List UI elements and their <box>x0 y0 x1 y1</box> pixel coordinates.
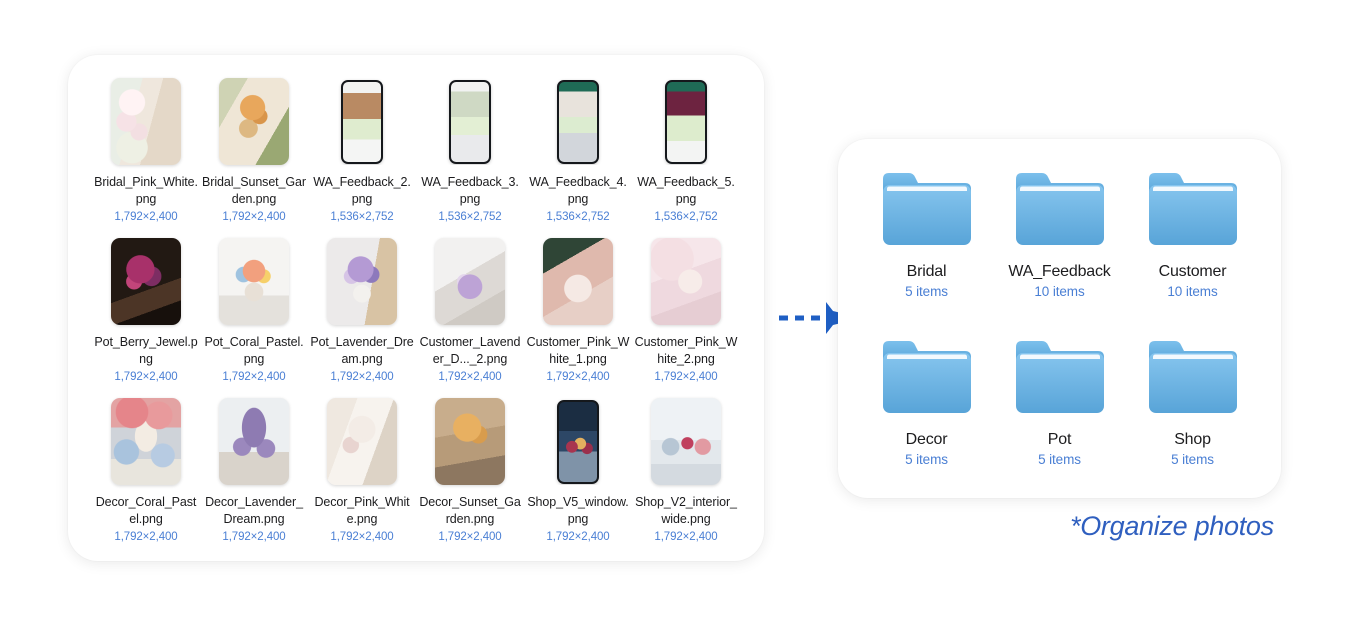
file-thumbnail <box>111 78 181 165</box>
photo-preview <box>651 398 721 485</box>
file-dimensions: 1,792×2,400 <box>222 370 285 384</box>
file-dimensions: 1,792×2,400 <box>546 530 609 544</box>
file-item[interactable]: Customer_Lavender_D..._2.png1,792×2,400 <box>416 233 524 393</box>
file-item[interactable]: Decor_Sunset_Garden.png1,792×2,400 <box>416 393 524 553</box>
file-name: Customer_Pink_White_2.png <box>634 334 738 367</box>
file-thumbnail <box>111 398 181 485</box>
phone-screenshot-icon <box>341 80 383 164</box>
file-dimensions: 1,792×2,400 <box>438 370 501 384</box>
file-thumbnail <box>651 78 721 165</box>
file-thumbnail <box>219 238 289 325</box>
folder-item-count: 5 items <box>905 452 948 468</box>
file-dimensions: 1,792×2,400 <box>114 210 177 224</box>
folder-icon <box>879 337 975 417</box>
file-dimensions: 1,792×2,400 <box>114 530 177 544</box>
file-thumbnail <box>435 78 505 165</box>
phone-screenshot-icon <box>557 80 599 164</box>
file-thumbnail <box>219 398 289 485</box>
folder-icon <box>1145 337 1241 417</box>
file-dimensions: 1,792×2,400 <box>330 370 393 384</box>
folder-icon <box>1012 337 1108 417</box>
file-name: Customer_Lavender_D..._2.png <box>418 334 522 367</box>
folder-name: Customer <box>1159 262 1227 281</box>
file-dimensions: 1,536×2,752 <box>438 210 501 224</box>
file-name: Decor_Pink_White.png <box>310 494 414 527</box>
photo-preview <box>219 78 289 165</box>
file-thumbnail <box>111 238 181 325</box>
folder-name: Pot <box>1048 430 1071 449</box>
photo-preview <box>219 398 289 485</box>
file-thumbnail <box>327 78 397 165</box>
file-thumbnail <box>543 398 613 485</box>
file-dimensions: 1,792×2,400 <box>330 530 393 544</box>
folder-item[interactable]: WA_Feedback10 items <box>993 161 1126 329</box>
photo-preview <box>435 398 505 485</box>
file-thumbnail <box>327 238 397 325</box>
file-thumbnail <box>327 398 397 485</box>
photo-preview <box>111 238 181 325</box>
file-name: Decor_Lavender_Dream.png <box>202 494 306 527</box>
file-name: Shop_V2_interior_wide.png <box>634 494 738 527</box>
photo-preview <box>651 238 721 325</box>
file-item[interactable]: Customer_Pink_White_2.png1,792×2,400 <box>632 233 740 393</box>
file-item[interactable]: WA_Feedback_3.png1,536×2,752 <box>416 73 524 233</box>
file-item[interactable]: Decor_Lavender_Dream.png1,792×2,400 <box>200 393 308 553</box>
file-item[interactable]: Pot_Lavender_Dream.png1,792×2,400 <box>308 233 416 393</box>
phone-screenshot-icon <box>665 80 707 164</box>
folder-item-count: 10 items <box>1167 284 1217 300</box>
folder-item[interactable]: Bridal5 items <box>860 161 993 329</box>
file-name: Pot_Berry_Jewel.png <box>94 334 198 367</box>
file-item[interactable]: Bridal_Pink_White.png1,792×2,400 <box>92 73 200 233</box>
folder-item[interactable]: Decor5 items <box>860 329 993 497</box>
file-item[interactable]: WA_Feedback_4.png1,536×2,752 <box>524 73 632 233</box>
folder-name: Shop <box>1174 430 1211 449</box>
photo-preview <box>327 398 397 485</box>
file-name: WA_Feedback_2.png <box>310 174 414 207</box>
folder-item[interactable]: Pot5 items <box>993 329 1126 497</box>
photo-preview <box>435 238 505 325</box>
folder-item-count: 5 items <box>905 284 948 300</box>
file-name: Customer_Pink_White_1.png <box>526 334 630 367</box>
folder-item[interactable]: Customer10 items <box>1126 161 1259 329</box>
file-name: Pot_Coral_Pastel.png <box>202 334 306 367</box>
source-files-panel: Bridal_Pink_White.png1,792×2,400Bridal_S… <box>68 55 764 561</box>
file-thumbnail <box>543 238 613 325</box>
folder-item-count: 5 items <box>1038 452 1081 468</box>
folder-item-count: 10 items <box>1034 284 1084 300</box>
file-thumbnail <box>543 78 613 165</box>
file-thumbnail <box>651 398 721 485</box>
file-thumbnail <box>435 238 505 325</box>
file-name: WA_Feedback_4.png <box>526 174 630 207</box>
file-thumbnail <box>651 238 721 325</box>
folder-icon <box>1145 169 1241 249</box>
file-item[interactable]: Shop_V2_interior_wide.png1,792×2,400 <box>632 393 740 553</box>
file-name: Shop_V5_window.png <box>526 494 630 527</box>
file-item[interactable]: Customer_Pink_White_1.png1,792×2,400 <box>524 233 632 393</box>
folder-icon <box>879 169 975 249</box>
phone-screenshot-icon <box>557 400 599 484</box>
file-item[interactable]: Bridal_Sunset_Garden.png1,792×2,400 <box>200 73 308 233</box>
file-name: Bridal_Pink_White.png <box>94 174 198 207</box>
photo-preview <box>327 238 397 325</box>
file-dimensions: 1,792×2,400 <box>222 210 285 224</box>
photo-preview <box>111 398 181 485</box>
file-item[interactable]: Decor_Pink_White.png1,792×2,400 <box>308 393 416 553</box>
file-dimensions: 1,792×2,400 <box>114 370 177 384</box>
file-dimensions: 1,792×2,400 <box>654 530 717 544</box>
file-item[interactable]: WA_Feedback_5.png1,536×2,752 <box>632 73 740 233</box>
file-name: WA_Feedback_3.png <box>418 174 522 207</box>
folder-name: Bridal <box>907 262 947 281</box>
file-dimensions: 1,792×2,400 <box>222 530 285 544</box>
file-item[interactable]: WA_Feedback_2.png1,536×2,752 <box>308 73 416 233</box>
file-thumbnail <box>435 398 505 485</box>
file-dimensions: 1,792×2,400 <box>438 530 501 544</box>
file-item[interactable]: Pot_Berry_Jewel.png1,792×2,400 <box>92 233 200 393</box>
folder-name: Decor <box>906 430 948 449</box>
file-name: Pot_Lavender_Dream.png <box>310 334 414 367</box>
folder-grid: Bridal5 itemsWA_Feedback10 itemsCustomer… <box>860 161 1259 497</box>
photo-preview <box>543 238 613 325</box>
file-grid: Bridal_Pink_White.png1,792×2,400Bridal_S… <box>92 73 740 553</box>
file-name: Decor_Sunset_Garden.png <box>418 494 522 527</box>
folder-item[interactable]: Shop5 items <box>1126 329 1259 497</box>
folder-icon <box>1012 169 1108 249</box>
caption-organize-photos: *Organize photos <box>1070 511 1274 542</box>
file-dimensions: 1,536×2,752 <box>330 210 393 224</box>
file-item[interactable]: Decor_Coral_Pastel.png1,792×2,400 <box>92 393 200 553</box>
folder-item-count: 5 items <box>1171 452 1214 468</box>
file-thumbnail <box>219 78 289 165</box>
photo-preview <box>219 238 289 325</box>
organized-folders-panel: Bridal5 itemsWA_Feedback10 itemsCustomer… <box>838 139 1281 498</box>
file-item[interactable]: Shop_V5_window.png1,792×2,400 <box>524 393 632 553</box>
folder-name: WA_Feedback <box>1008 262 1110 281</box>
file-dimensions: 1,792×2,400 <box>654 370 717 384</box>
file-name: WA_Feedback_5.png <box>634 174 738 207</box>
file-item[interactable]: Pot_Coral_Pastel.png1,792×2,400 <box>200 233 308 393</box>
file-dimensions: 1,536×2,752 <box>654 210 717 224</box>
phone-screenshot-icon <box>449 80 491 164</box>
file-name: Bridal_Sunset_Garden.png <box>202 174 306 207</box>
file-dimensions: 1,792×2,400 <box>546 370 609 384</box>
file-name: Decor_Coral_Pastel.png <box>94 494 198 527</box>
photo-preview <box>111 78 181 165</box>
file-dimensions: 1,536×2,752 <box>546 210 609 224</box>
